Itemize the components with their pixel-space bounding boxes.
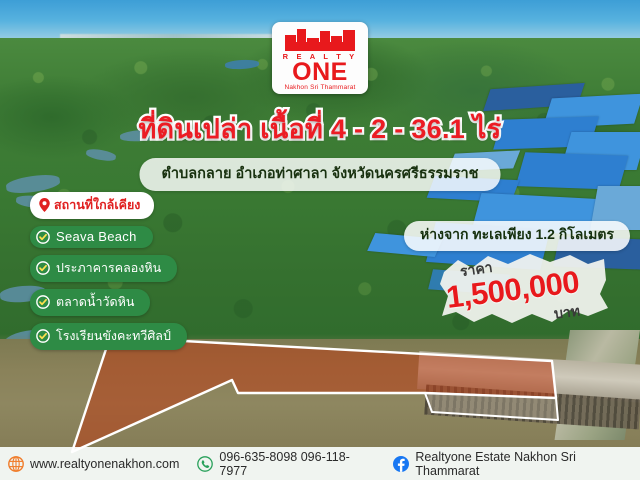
- footer-phone[interactable]: 096-635-8098 096-118-7977: [197, 450, 375, 478]
- location-subtitle: ตำบลกลาย อำเภอท่าศาลา จังหวัดนครศรีธรรมร…: [140, 158, 501, 191]
- nearby-item-label: ตลาดน้ำวัดหิน: [56, 292, 134, 312]
- nearby-item-school[interactable]: โรงเรียนขังคะทวีศิลป์: [30, 323, 187, 350]
- brand-logo: R E A L T Y ONE Nakhon Sri Thammarat: [272, 22, 368, 94]
- nearby-item-floating-market[interactable]: ตลาดน้ำวัดหิน: [30, 289, 150, 316]
- footer-website[interactable]: www.realtyonenakhon.com: [8, 456, 179, 472]
- nearby-item-label: ประภาคารคลองหิน: [56, 258, 161, 278]
- nearby-places-header: สถานที่ใกล้เคียง: [30, 192, 154, 219]
- globe-icon: [8, 456, 24, 472]
- nearby-item-lighthouse[interactable]: ประภาคารคลองหิน: [30, 255, 177, 282]
- nearby-places-panel: สถานที่ใกล้เคียง Seava Beach ประภาคารคลอ…: [30, 192, 187, 350]
- pond: [516, 152, 629, 190]
- nearby-item-label: Seava Beach: [56, 229, 137, 244]
- price-badge: ราคา 1,500,000 บาท: [438, 250, 610, 328]
- headline-title: ที่ดินเปล่า เนื้อที่ 4 - 2 - 36.1 ไร่: [0, 107, 640, 150]
- city-skyline-icon: [285, 27, 355, 51]
- check-circle-icon: [36, 295, 50, 309]
- facebook-icon: [393, 456, 409, 472]
- phone-text: 096-635-8098 096-118-7977: [219, 450, 375, 478]
- check-circle-icon: [36, 261, 50, 275]
- nearby-item-label: โรงเรียนขังคะทวีศิลป์: [56, 326, 171, 346]
- logo-one-word: ONE: [292, 61, 348, 84]
- website-text: www.realtyonenakhon.com: [30, 457, 179, 471]
- facebook-text: Realtyone Estate Nakhon Sri Thammarat: [415, 450, 640, 478]
- check-circle-icon: [36, 230, 50, 244]
- price-currency-unit: บาท: [553, 300, 581, 325]
- listing-poster: R E A L T Y ONE Nakhon Sri Thammarat ที่…: [0, 0, 640, 480]
- map-pin-icon: [39, 198, 50, 212]
- distance-to-sea-badge: ห่างจาก ทะเลเพียง 1.2 กิโลเมตร: [404, 221, 630, 251]
- nearby-places-label: สถานที่ใกล้เคียง: [54, 195, 140, 215]
- footer-facebook[interactable]: Realtyone Estate Nakhon Sri Thammarat: [393, 450, 640, 478]
- phone-circle-icon: [197, 456, 213, 472]
- contact-footer: www.realtyonenakhon.com 096-635-8098 096…: [0, 447, 640, 480]
- check-circle-icon: [36, 329, 50, 343]
- nearby-item-seava-beach[interactable]: Seava Beach: [30, 226, 153, 248]
- logo-tagline: Nakhon Sri Thammarat: [284, 85, 355, 92]
